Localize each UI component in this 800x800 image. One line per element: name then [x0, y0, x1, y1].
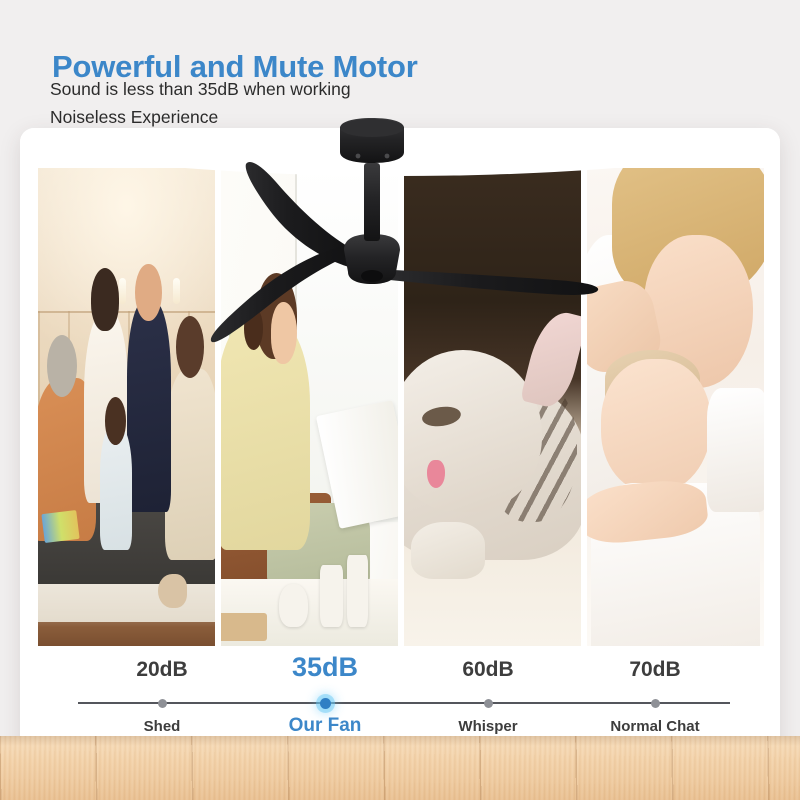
photo-sleeping-kitten	[404, 168, 581, 646]
scale-label: Our Fan	[289, 715, 362, 737]
scale-dot	[651, 699, 660, 708]
scale-value: 35dB	[292, 652, 358, 683]
photo-mother-and-baby	[587, 168, 764, 646]
subtitle-line-1: Sound is less than 35dB when working	[50, 75, 351, 103]
scale-dot	[484, 699, 493, 708]
subtitle-line-2: Noiseless Experience	[50, 103, 351, 131]
product-feature-banner: Powerful and Mute Motor Sound is less th…	[0, 0, 800, 800]
photo-family-living-room	[38, 168, 215, 646]
scale-axis-line	[78, 702, 730, 704]
photo-woman-reading	[221, 168, 398, 646]
scale-label: Normal Chat	[610, 718, 699, 735]
scale-dot	[158, 699, 167, 708]
scale-dot-highlight	[320, 698, 331, 709]
scale-label: Shed	[144, 718, 181, 735]
scale-label: Whisper	[458, 718, 517, 735]
scale-value: 60dB	[462, 658, 513, 682]
content-card: 20dB Shed 35dB Our Fan 60dB Whisper 70dB…	[20, 128, 780, 760]
subtitle-block: Sound is less than 35dB when working Noi…	[50, 75, 351, 131]
scale-value: 70dB	[629, 658, 680, 682]
photo-gallery	[38, 168, 764, 646]
scale-value: 20dB	[136, 658, 187, 682]
decibel-scale: 20dB Shed 35dB Our Fan 60dB Whisper 70dB…	[38, 650, 762, 746]
